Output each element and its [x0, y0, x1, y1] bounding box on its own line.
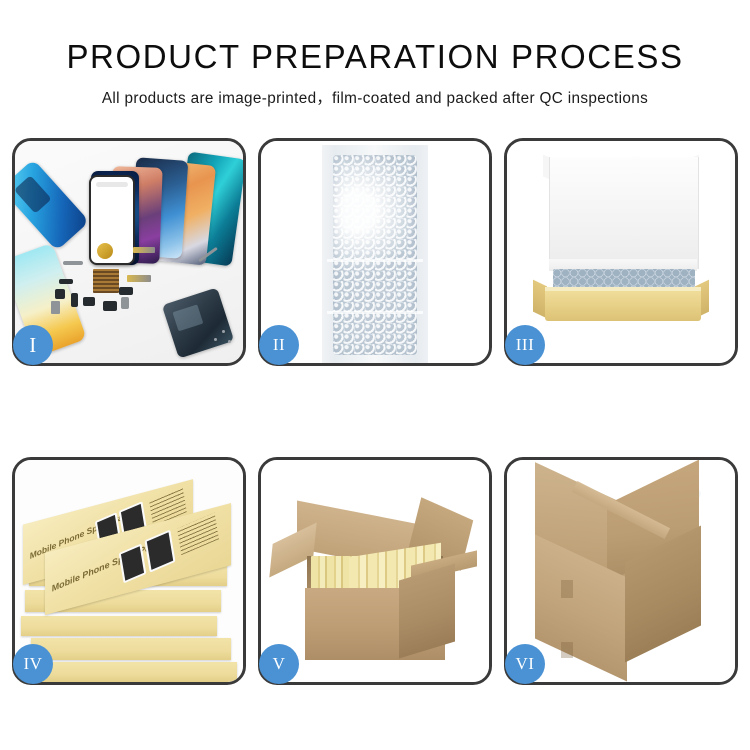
sealed-carton-seam-lower: [561, 642, 573, 658]
step-6-image: [507, 460, 735, 682]
step-badge-5: V: [259, 644, 299, 684]
step-badge-3: III: [505, 325, 545, 365]
step-5-image: [261, 460, 489, 682]
spare-part-button: [71, 293, 78, 307]
process-step-panel-4[interactable]: Mobile Phone Spare Parts Mobile Phone Sp…: [12, 457, 246, 685]
process-step-panel-6[interactable]: VI: [504, 457, 738, 685]
page-title: PRODUCT PREPARATION PROCESS: [0, 0, 750, 76]
process-step-panel-5[interactable]: V: [258, 457, 492, 685]
blue-phone-frame: [15, 159, 89, 251]
spare-part-flex-cable-2: [127, 275, 151, 282]
step-badge-6: VI: [505, 644, 545, 684]
spare-part-sim-tray: [121, 297, 129, 309]
spare-part-connector-2: [55, 289, 65, 299]
spare-part-screw-1: [222, 330, 225, 333]
spare-part-sensor: [51, 301, 60, 314]
retail-box-1-screen-image-1: [119, 543, 147, 583]
header: PRODUCT PREPARATION PROCESS All products…: [0, 0, 750, 108]
phone-logic-board: [162, 287, 234, 358]
step-1-image: [15, 141, 243, 363]
carton-body-right: [399, 563, 455, 658]
process-step-panel-3[interactable]: III: [504, 138, 738, 366]
spare-part-coil: [97, 243, 113, 259]
step-badge-4: IV: [13, 644, 53, 684]
bubble-wrap-seam-2: [327, 311, 423, 314]
spare-part-connector-1: [59, 279, 73, 284]
bubble-wrap-highlights: [333, 155, 417, 355]
box-lid-white: [549, 157, 699, 269]
spare-part-mesh-grid: [93, 269, 119, 293]
step-4-image: Mobile Phone Spare Parts Mobile Phone Sp…: [15, 460, 243, 682]
process-step-panel-2[interactable]: II: [258, 138, 492, 366]
spare-part-flex-cable-1: [133, 247, 155, 253]
retail-box-1-screen-image-2: [145, 530, 176, 573]
page-subtitle: All products are image-printed，film-coat…: [0, 76, 750, 108]
spare-part-screw-2: [214, 338, 217, 341]
spare-part-speaker: [63, 261, 83, 265]
spare-part-battery-connector: [119, 287, 133, 295]
sealed-carton-seam-upper: [561, 580, 573, 598]
step-3-image: [507, 141, 735, 363]
retail-box-5: [21, 616, 217, 636]
step-badge-1: I: [13, 325, 53, 365]
process-step-grid: I II: [12, 138, 738, 685]
box-front-kraft: [545, 291, 701, 321]
step-badge-2: II: [259, 325, 299, 365]
spare-part-screw-3: [228, 340, 231, 343]
bubble-wrap-seam-1: [327, 259, 423, 262]
retail-box-stack: Mobile Phone Spare Parts Mobile Phone Sp…: [17, 466, 243, 682]
step-2-image: [261, 141, 489, 363]
spare-part-vibrator: [103, 301, 117, 311]
spare-part-camera-module: [83, 297, 95, 306]
retail-box-6: [31, 638, 231, 660]
retail-box-1-spec-lines: [177, 513, 219, 555]
retail-box-7: [35, 662, 237, 682]
process-step-panel-1[interactable]: I: [12, 138, 246, 366]
product-preparation-infographic: PRODUCT PREPARATION PROCESS All products…: [0, 0, 750, 750]
